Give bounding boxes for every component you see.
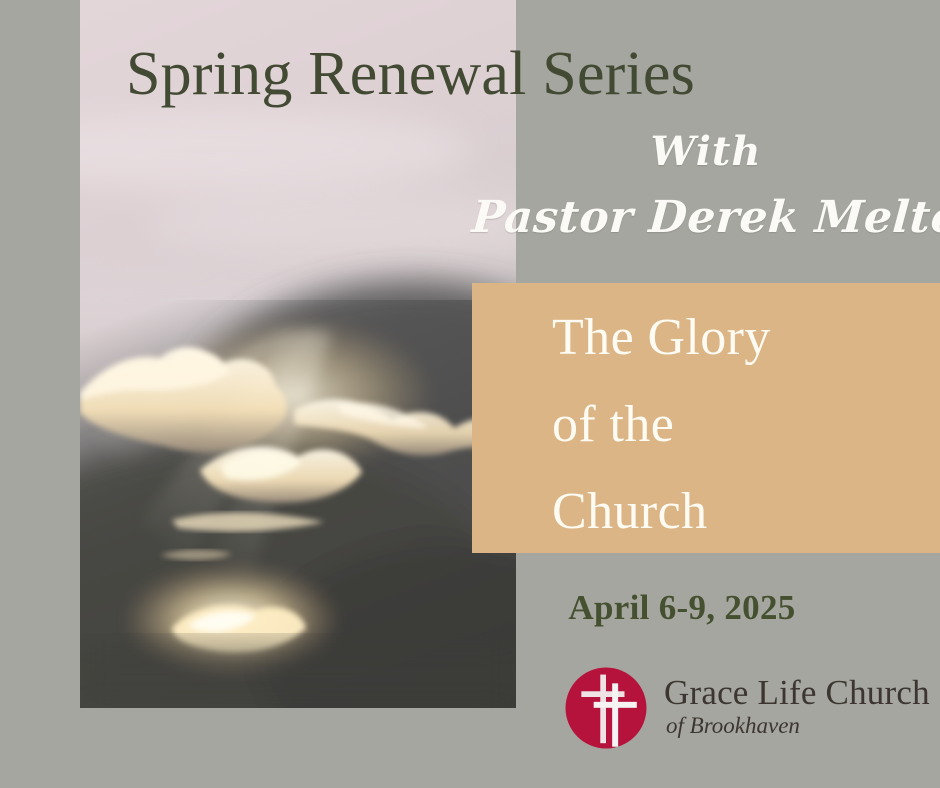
speaker-name: Pastor Derek Melton	[470, 192, 940, 243]
page-title: Spring Renewal Series	[126, 42, 695, 107]
poster-canvas: Spring Renewal Series With Pastor Derek …	[0, 0, 940, 788]
church-logo: Grace Life Church of Brookhaven	[562, 664, 930, 752]
sermon-series-title: The Glory of the Church	[552, 294, 940, 555]
church-location: of Brookhaven	[666, 712, 930, 741]
sermon-title-line-2: of the	[552, 381, 940, 468]
circle-double-cross-icon	[562, 664, 650, 752]
logo-wordmark: Grace Life Church of Brookhaven	[664, 675, 930, 741]
sermon-title-line-1: The Glory	[552, 294, 940, 381]
church-name: Grace Life Church	[664, 675, 930, 710]
event-date: April 6-9, 2025	[472, 588, 892, 628]
sermon-title-line-3: Church	[552, 468, 940, 555]
with-label: With	[472, 128, 940, 175]
